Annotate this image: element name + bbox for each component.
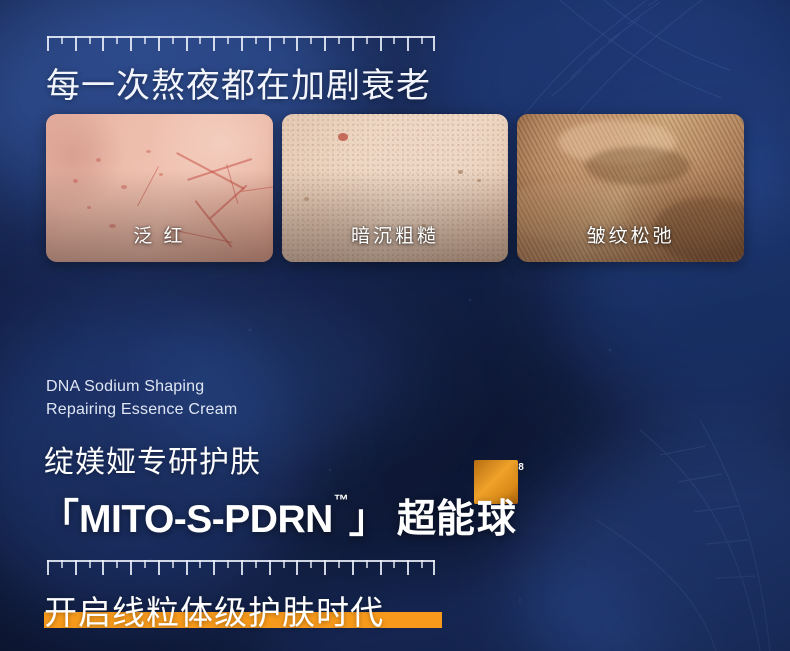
ruler-tick <box>324 560 326 575</box>
slogan-text: 开启线粒体级护肤时代 <box>44 586 384 634</box>
ruler-tick <box>186 560 188 575</box>
concern-card-row: 泛 红 暗沉粗糙 皱纹松弛 <box>46 114 744 262</box>
ruler-tick <box>116 36 118 44</box>
ruler-tick <box>144 560 146 568</box>
ruler-tick <box>102 36 104 51</box>
product-english-name-line2: Repairing Essence Cream <box>46 398 237 421</box>
ruler-tick <box>324 36 326 51</box>
ruler-tick <box>421 36 423 44</box>
promo-page: 每一次熬夜都在加剧衰老 泛 红 <box>0 0 790 651</box>
ruler-tick <box>255 36 257 44</box>
ruler-tick <box>283 36 285 44</box>
ingredient-name: MITO-S-PDRN <box>79 498 333 542</box>
ruler-tick <box>47 560 49 575</box>
ruler-tick <box>283 560 285 568</box>
ruler-tick <box>89 36 91 44</box>
ruler-tick <box>352 36 354 51</box>
ruler-tick <box>338 36 340 44</box>
ruler-tick <box>393 36 395 44</box>
concern-card[interactable]: 暗沉粗糙 <box>282 114 509 262</box>
concern-card-label: 暗沉粗糙 <box>282 221 509 248</box>
ruler-tick <box>366 36 368 44</box>
ruler-tick <box>130 36 132 51</box>
ruler-tick <box>75 36 77 51</box>
ruler-tick <box>47 36 49 51</box>
concern-card[interactable]: 皱纹松弛 <box>517 114 744 262</box>
card-shade <box>282 170 509 262</box>
ruler-tick <box>227 560 229 568</box>
ruler-tick <box>352 560 354 575</box>
ruler-tick <box>366 560 368 568</box>
ruler-tick <box>241 560 243 575</box>
ruler-tick <box>61 36 63 44</box>
ruler-tick <box>61 560 63 568</box>
ruler-tick <box>186 36 188 51</box>
ruler-tick <box>241 36 243 51</box>
ruler-tick <box>296 560 298 575</box>
ingredient-suffix-highlight: 球 <box>477 498 516 541</box>
card-shade <box>46 170 273 262</box>
ingredient-suffix: 超能 <box>397 488 475 544</box>
ruler-tick <box>296 36 298 51</box>
ruler-tick <box>199 560 201 568</box>
ruler-tick <box>407 560 409 575</box>
ruler-tick <box>213 36 215 51</box>
footnote-marker: 8 <box>518 462 524 473</box>
card-shade <box>517 170 744 262</box>
ruler-tick <box>172 36 174 44</box>
ruler-tick <box>421 560 423 568</box>
bracket-open: 「 <box>40 488 79 544</box>
ruler-tick <box>380 36 382 51</box>
ruler-tick <box>89 560 91 568</box>
ruler-tick <box>158 36 160 51</box>
brand-line: 绽媄娅专研护肤 <box>44 437 261 481</box>
concern-card[interactable]: 泛 红 <box>46 114 273 262</box>
ruler-tick <box>255 560 257 568</box>
ruler-tick <box>130 560 132 575</box>
ruler-tick <box>310 560 312 568</box>
ruler-tick <box>102 560 104 575</box>
bracket-close: 」 <box>349 488 388 544</box>
ruler-tick <box>433 560 435 575</box>
ruler-tick <box>380 560 382 575</box>
hero-ingredient-line: 「 MITO-S-PDRN ™ 」 超能 球 8 <box>40 488 518 544</box>
product-english-name-line1: DNA Sodium Shaping <box>46 375 237 398</box>
ruler-tick <box>393 560 395 568</box>
ruler-tick <box>338 560 340 568</box>
ruler-tick <box>213 560 215 575</box>
trademark-symbol: ™ <box>334 492 349 509</box>
ruler-decoration-top <box>47 36 435 52</box>
ruler-tick <box>227 36 229 44</box>
highlight-chip: 球 8 <box>475 488 518 544</box>
ruler-tick <box>116 560 118 568</box>
ruler-tick <box>172 560 174 568</box>
ruler-tick <box>433 36 435 51</box>
concern-card-label: 皱纹松弛 <box>517 221 744 248</box>
ruler-decoration-bottom <box>47 560 435 576</box>
ruler-tick <box>269 560 271 575</box>
ruler-tick <box>269 36 271 51</box>
slogan-block: 开启线粒体级护肤时代 <box>44 586 384 630</box>
page-title: 每一次熬夜都在加剧衰老 <box>46 58 431 107</box>
ruler-tick <box>75 560 77 575</box>
ruler-tick <box>310 36 312 44</box>
ruler-tick <box>158 560 160 575</box>
product-english-name: DNA Sodium Shaping Repairing Essence Cre… <box>46 375 237 421</box>
ruler-tick <box>407 36 409 51</box>
ruler-tick <box>199 36 201 44</box>
concern-card-label: 泛 红 <box>46 221 273 248</box>
ruler-tick <box>144 36 146 44</box>
